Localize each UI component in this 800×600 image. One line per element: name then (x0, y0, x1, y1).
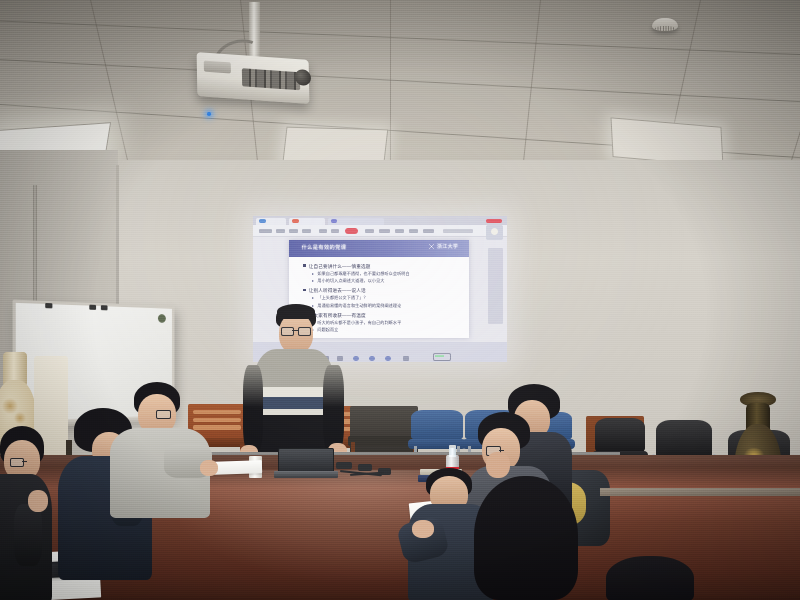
slide-bullet-level2: 「上头都把公文下透了」？ (312, 295, 458, 301)
student-hand (200, 460, 218, 476)
chat-icon[interactable] (369, 356, 375, 361)
student-hair (606, 556, 694, 600)
participants-icon[interactable] (353, 356, 359, 361)
record-badge (486, 219, 502, 223)
university-logo: 浙江大学 (428, 243, 458, 250)
laptop-lid (278, 448, 334, 472)
cable-adapter (336, 462, 352, 469)
presenter-video-thumbnail[interactable] (486, 225, 503, 240)
presenter-glasses (298, 327, 311, 336)
cable-adapter (358, 464, 372, 471)
student-left-3 (112, 382, 212, 512)
presenter (246, 305, 340, 470)
battery-icon (433, 353, 451, 361)
projector-power-led-icon (207, 112, 211, 116)
slide-bullet-level1: 让自己要讲什么——慎重选题 (303, 264, 458, 270)
student-right-5 (600, 556, 700, 600)
glasses-bridge (292, 330, 298, 331)
projector-body (197, 52, 310, 104)
presenter-hair-top (277, 304, 315, 319)
projector-lens-icon (295, 69, 311, 86)
participant-video-strip[interactable] (488, 248, 503, 324)
presenter-glasses (281, 327, 294, 336)
logo-mark-icon (428, 244, 435, 249)
settings-icon[interactable] (403, 356, 409, 361)
wall-baseboard (600, 488, 800, 496)
presenter-torso (254, 349, 334, 461)
student-left-4 (0, 418, 66, 600)
glasses-bridge (499, 450, 504, 451)
tab-favicon-icon (259, 219, 266, 223)
student-long-hair (474, 476, 578, 600)
slide-bullet-level2: 用小的切入点阐述大道理，以小见大 (312, 278, 458, 284)
slide-title-text: 什么是有效的党课 (302, 244, 347, 251)
student-hand (28, 490, 48, 512)
smoke-detector-icon (652, 18, 678, 31)
sweater-white-stripe (254, 387, 334, 397)
browser-toolbar (253, 225, 507, 237)
tab-favicon-icon (331, 219, 337, 223)
browser-tab-bar (253, 216, 507, 225)
photo-scene: 什么是有效的党课 浙江大学 让自己要讲什么——慎重选题 如果自己都琢磨不透彻，也… (0, 0, 800, 600)
presenter-right-arm (323, 365, 344, 453)
slide-bullet-level1: 让别人听得进去——说人话 (303, 288, 458, 294)
student-glasses (156, 410, 171, 419)
tab-favicon-icon (292, 219, 299, 223)
projector-ports (242, 68, 301, 90)
student-arm (14, 504, 42, 566)
glasses-bridge (22, 461, 27, 462)
sweater-navy-stripe (254, 397, 334, 409)
sweater-top-band (254, 349, 334, 387)
more-icon[interactable] (385, 356, 391, 361)
record-button[interactable] (345, 228, 358, 234)
laptop[interactable] (278, 448, 334, 472)
student-hand-writing (412, 520, 434, 538)
student-glasses (10, 458, 24, 467)
slide-title-bar: 什么是有效的党课 浙江大学 (289, 240, 469, 257)
slide-bullet-level2: 如果自己都琢磨不透彻，也不要幻想听众会听明白 (312, 271, 458, 277)
presenter-left-arm (243, 365, 263, 453)
whiteboard-knob-icon (158, 314, 166, 323)
logo-text: 浙江大学 (437, 244, 458, 250)
laptop-base (274, 471, 339, 478)
student-right-4 (464, 476, 590, 600)
